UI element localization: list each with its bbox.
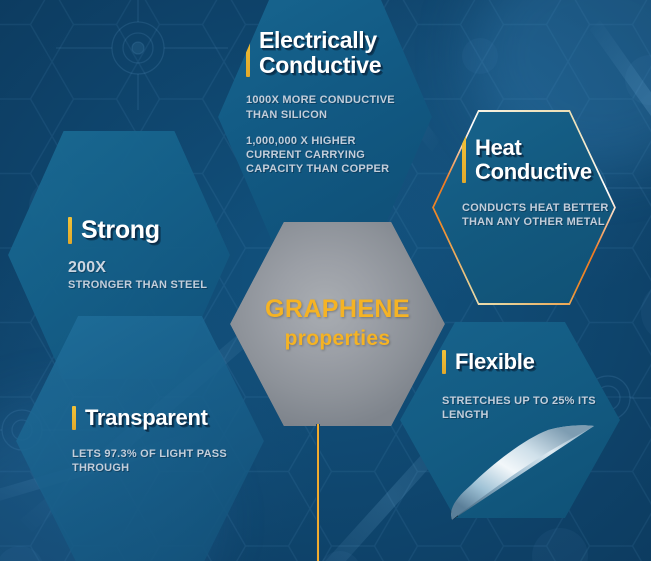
infographic-canvas: Strong 200X STRONGER THAN STEEL Electric… [0,0,651,561]
property-card-electrically-conductive[interactable]: Electrically Conductive 1000X MORE CONDU… [218,0,432,240]
card-background-heat-conductive [434,112,614,303]
center-hexagon-background [230,222,445,426]
property-card-heat-conductive[interactable]: Heat Conductive CONDUCTS HEAT BETTER THA… [432,110,616,305]
center-hexagon: GRAPHENE properties [230,222,445,426]
card-background-flexible [400,322,620,518]
property-card-flexible[interactable]: Flexible STRETCHES UP TO 25% ITS LENGTH [400,322,620,518]
connector-line-bottom [316,424,320,561]
card-background-electrically-conductive [218,0,432,240]
